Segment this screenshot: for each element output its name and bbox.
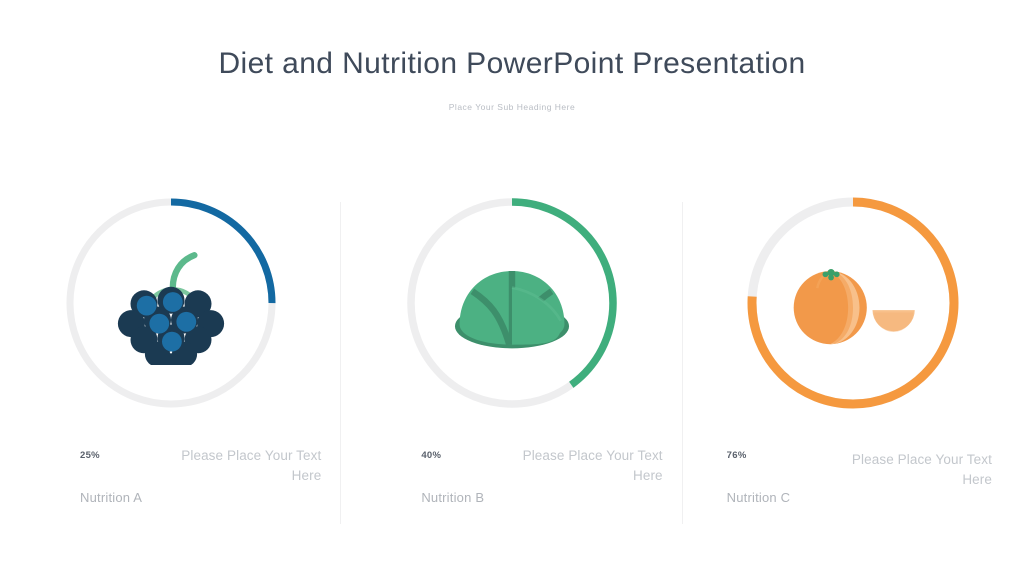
body-text-b: Please Place Your Text Here — [513, 446, 663, 485]
panel-footer-a: 25% Nutrition A Please Place Your Text H… — [0, 450, 341, 530]
grapes-icon — [106, 246, 236, 366]
percent-label-a: 25% — [80, 450, 100, 461]
donut-chart-c[interactable] — [742, 192, 964, 420]
cabbage-icon — [447, 246, 577, 366]
donut-chart-a[interactable] — [60, 192, 282, 420]
percent-label-c: 76% — [727, 450, 747, 461]
panel-footer-b: 40% Nutrition B Please Place Your Text H… — [341, 450, 682, 530]
slide-header: Diet and Nutrition PowerPoint Presentati… — [0, 0, 1024, 112]
nutrition-name-a: Nutrition A — [80, 490, 142, 505]
nutrition-name-b: Nutrition B — [421, 490, 484, 505]
orange-fruit-icon — [788, 246, 918, 366]
panel-footer-c: 76% Nutrition C Please Place Your Text H… — [683, 450, 1024, 530]
nutrition-name-c: Nutrition C — [727, 490, 791, 505]
body-text-c: Please Place Your Text Here — [842, 450, 992, 489]
page-title: Diet and Nutrition PowerPoint Presentati… — [0, 0, 1024, 82]
nutrition-panels: 25% Nutrition A Please Place Your Text H… — [0, 192, 1024, 532]
percent-label-b: 40% — [421, 450, 441, 461]
page-subtitle: Place Your Sub Heading Here — [0, 82, 1024, 112]
body-text-a: Please Place Your Text Here — [171, 446, 321, 485]
nutrition-panel-c[interactable]: 76% Nutrition C Please Place Your Text H… — [683, 192, 1024, 532]
nutrition-panel-b[interactable]: 40% Nutrition B Please Place Your Text H… — [341, 192, 682, 532]
donut-chart-b[interactable] — [401, 192, 623, 420]
nutrition-panel-a[interactable]: 25% Nutrition A Please Place Your Text H… — [0, 192, 341, 532]
